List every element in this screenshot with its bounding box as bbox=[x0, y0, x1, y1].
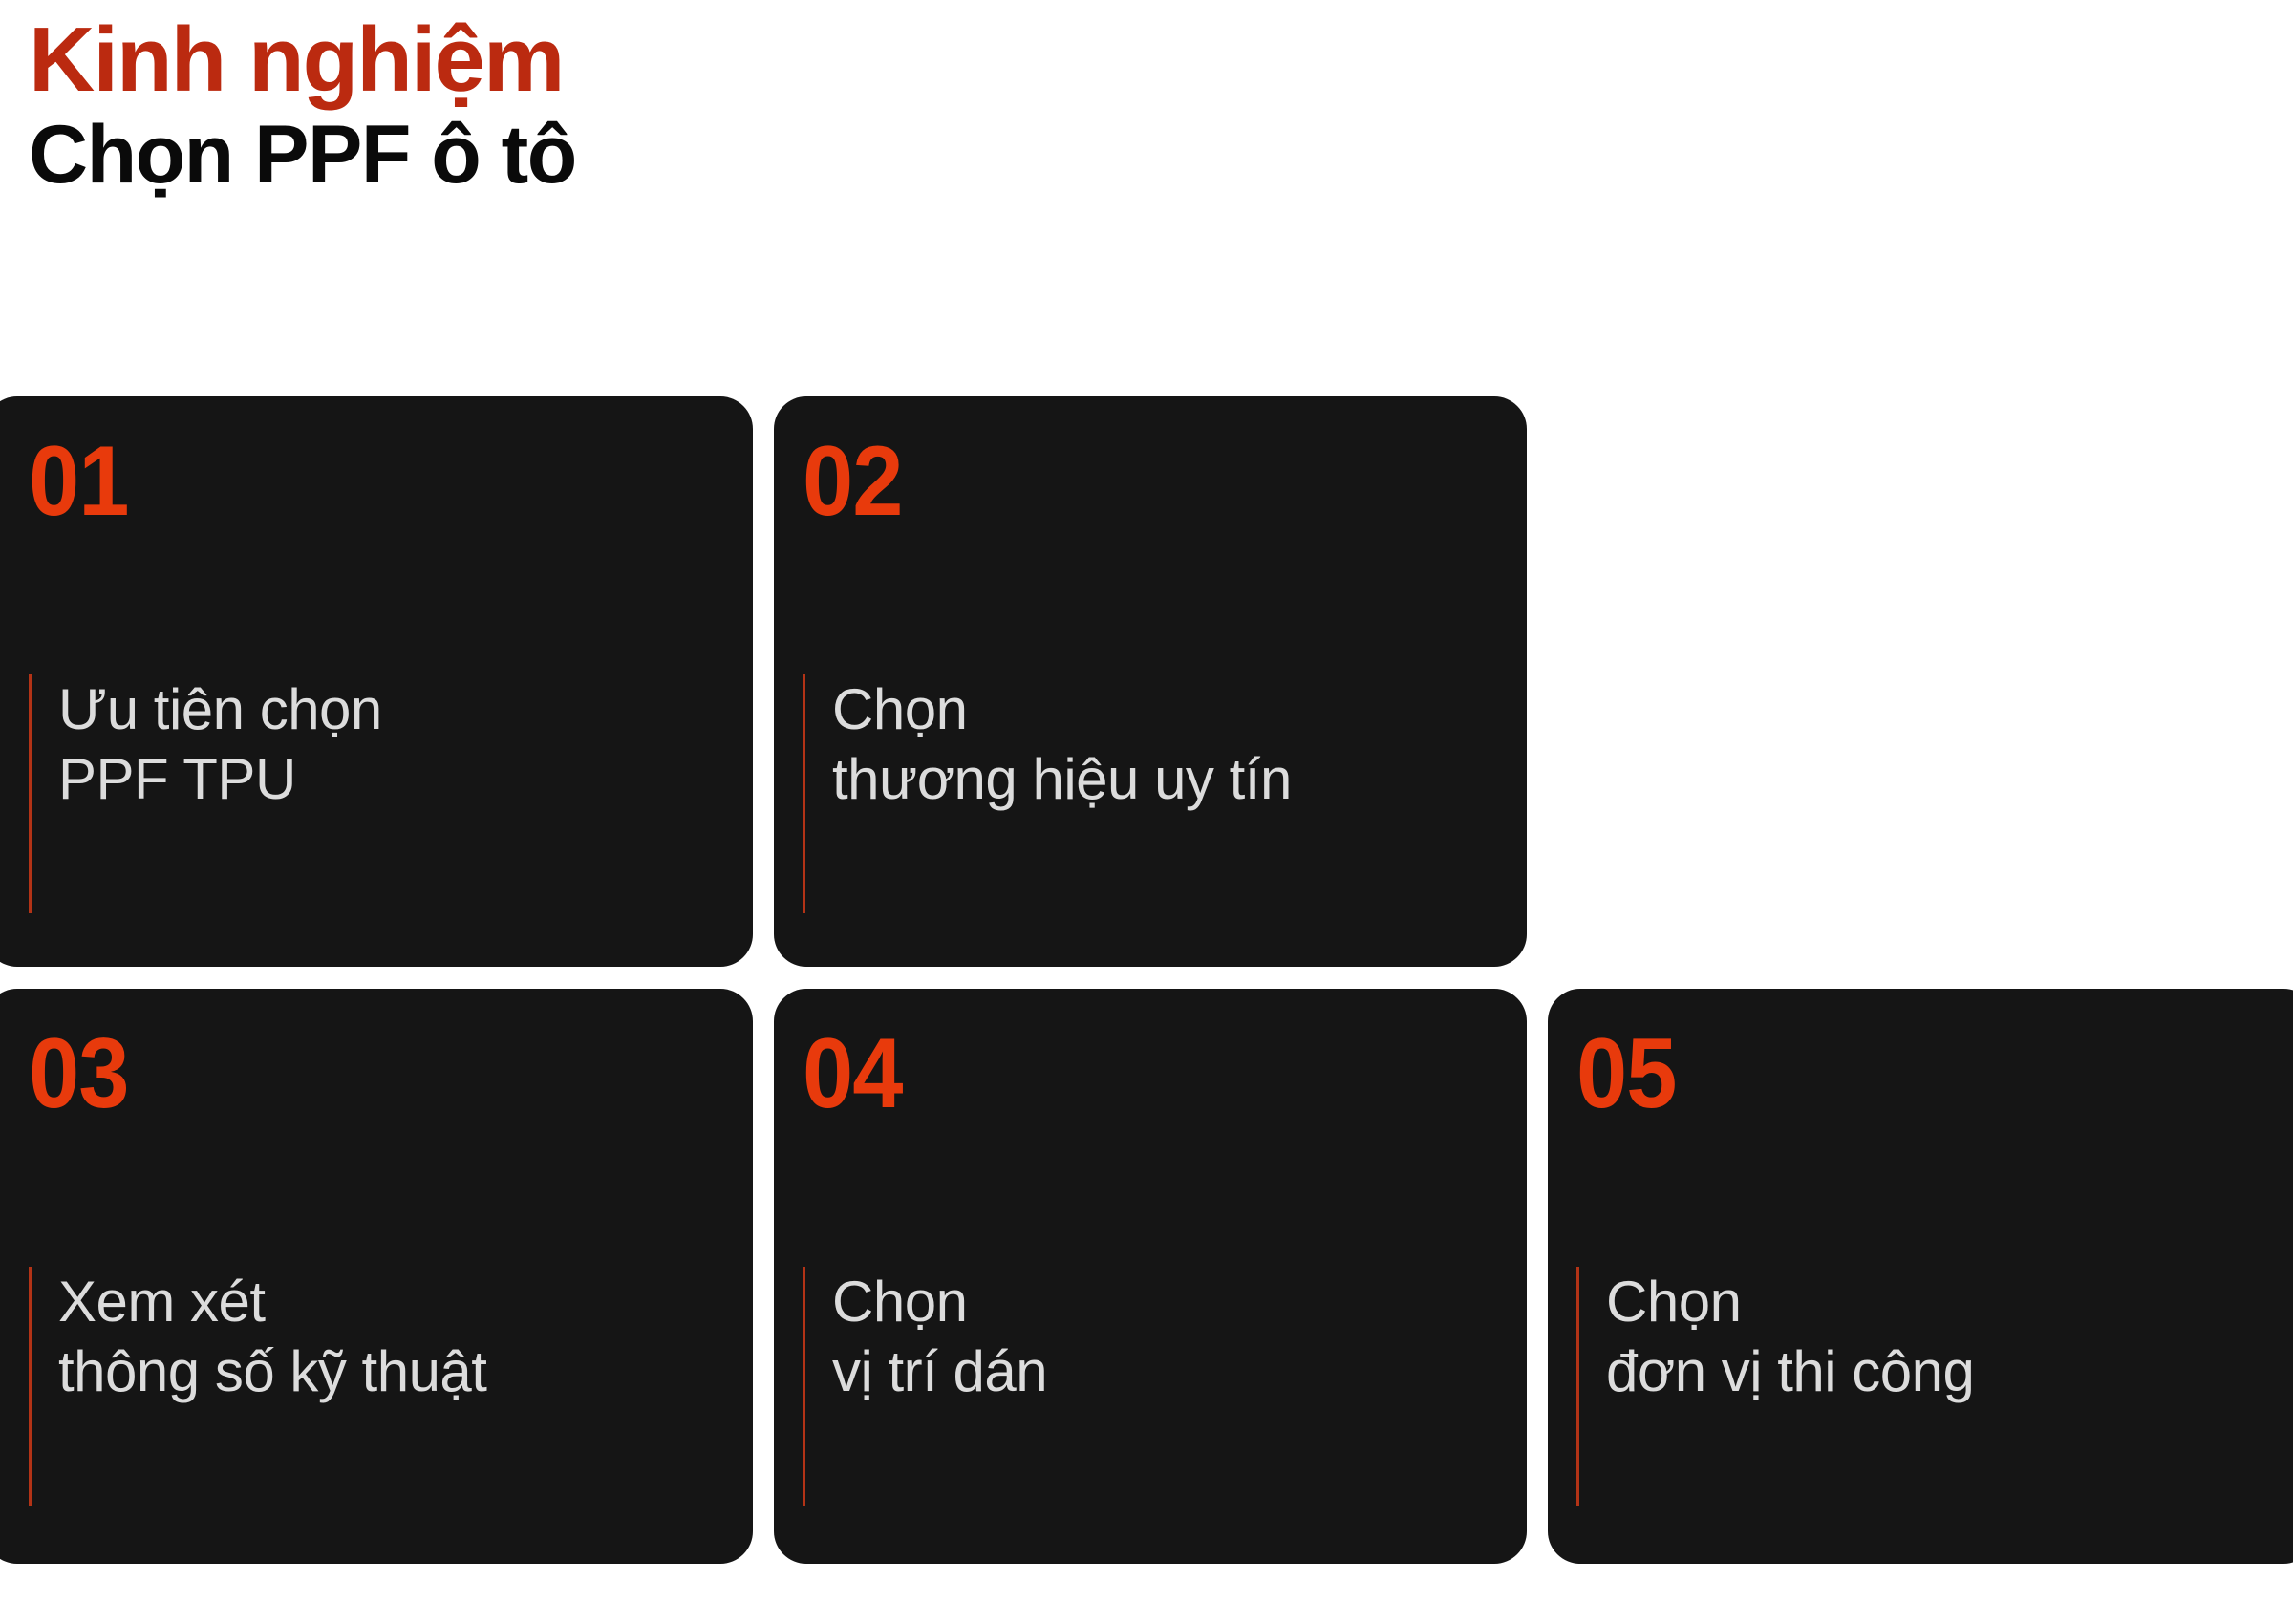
tip-card-number: 05 bbox=[1576, 1024, 1677, 1123]
accent-rule-icon bbox=[803, 1267, 805, 1506]
accent-rule-icon bbox=[1576, 1267, 1579, 1506]
tip-card-text: Chọn thương hiệu uy tín bbox=[832, 674, 1489, 913]
accent-rule-icon bbox=[29, 1267, 32, 1506]
page-title: Chọn PPF ô tô bbox=[29, 113, 1366, 198]
tip-card-number: 01 bbox=[29, 432, 129, 531]
tip-card-text-line-1: Chọn bbox=[1606, 1267, 2278, 1336]
tip-card-body: Chọn vị trí dán bbox=[803, 1267, 1489, 1506]
tip-card-04[interactable]: 04 Chọn vị trí dán bbox=[774, 989, 1527, 1564]
tip-card-body: Ưu tiên chọn PPF TPU bbox=[29, 674, 715, 913]
tip-card-text-line-2: thông số kỹ thuật bbox=[58, 1336, 715, 1406]
page-header: Kinh nghiệm Chọn PPF ô tô bbox=[29, 13, 1366, 198]
tip-card-body: Xem xét thông số kỹ thuật bbox=[29, 1267, 715, 1506]
tip-card-text-line-2: đơn vị thi công bbox=[1606, 1336, 2278, 1406]
accent-rule-icon bbox=[29, 674, 32, 913]
tip-card-number: 04 bbox=[803, 1024, 903, 1123]
tip-card-03[interactable]: 03 Xem xét thông số kỹ thuật bbox=[0, 989, 753, 1564]
tip-card-number: 02 bbox=[803, 432, 903, 531]
tip-card-01[interactable]: 01 Ưu tiên chọn PPF TPU bbox=[0, 396, 753, 967]
tip-card-text: Chọn đơn vị thi công bbox=[1606, 1267, 2278, 1506]
tip-card-text-line-1: Chọn bbox=[832, 1267, 1489, 1336]
tip-card-text: Xem xét thông số kỹ thuật bbox=[58, 1267, 715, 1506]
tip-card-body: Chọn đơn vị thi công bbox=[1576, 1267, 2278, 1506]
tip-card-text-line-1: Ưu tiên chọn bbox=[58, 674, 715, 744]
tips-card-grid: 01 Ưu tiên chọn PPF TPU 02 Chọn thương h… bbox=[0, 396, 2293, 1564]
tip-card-text-line-1: Xem xét bbox=[58, 1267, 715, 1336]
tip-card-text-line-2: PPF TPU bbox=[58, 744, 715, 814]
tip-card-text: Ưu tiên chọn PPF TPU bbox=[58, 674, 715, 913]
tip-card-text: Chọn vị trí dán bbox=[832, 1267, 1489, 1506]
tip-card-text-line-2: thương hiệu uy tín bbox=[832, 744, 1489, 814]
tip-card-05[interactable]: 05 Chọn đơn vị thi công bbox=[1548, 989, 2293, 1564]
card-row-bottom: 03 Xem xét thông số kỹ thuật 04 Chọn vị … bbox=[0, 989, 2293, 1564]
tip-card-body: Chọn thương hiệu uy tín bbox=[803, 674, 1489, 913]
card-row-top: 01 Ưu tiên chọn PPF TPU 02 Chọn thương h… bbox=[0, 396, 2293, 967]
tip-card-text-line-2: vị trí dán bbox=[832, 1336, 1489, 1406]
tip-card-text-line-1: Chọn bbox=[832, 674, 1489, 744]
page-eyebrow: Kinh nghiệm bbox=[29, 13, 1366, 107]
tip-card-02[interactable]: 02 Chọn thương hiệu uy tín bbox=[774, 396, 1527, 967]
accent-rule-icon bbox=[803, 674, 805, 913]
tip-card-number: 03 bbox=[29, 1024, 129, 1123]
